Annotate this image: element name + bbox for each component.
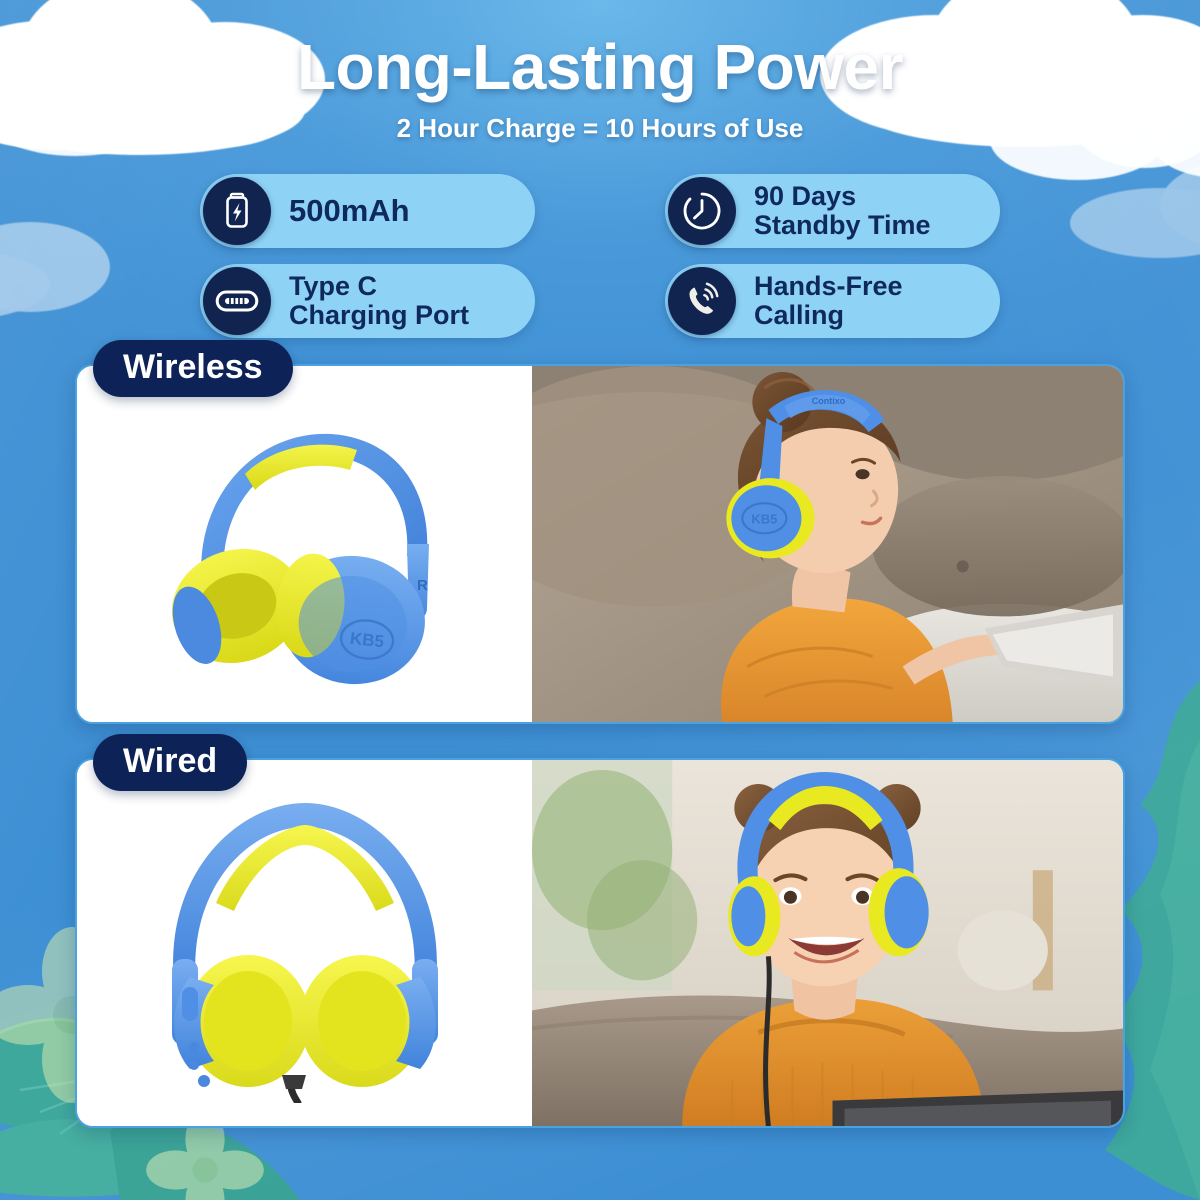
badge-capacity-label: 500mAh — [289, 194, 424, 227]
section-wireless: Wireless — [75, 364, 1125, 724]
page-title: Long-Lasting Power — [0, 0, 1200, 101]
badge-standby: 90 Days Standby Time — [665, 174, 1000, 248]
tag-wireless: Wireless — [93, 340, 293, 397]
wireless-product-panel: KB5 R — [77, 366, 532, 722]
wireless-lifestyle-photo: Contixo KB5 — [532, 366, 1123, 722]
badge-charging-port: Type C Charging Port — [200, 264, 535, 338]
section-wired: Wired — [75, 758, 1125, 1128]
smiling-girl-wearing-wired-headphones-scene — [532, 760, 1123, 1126]
wired-panel-row — [75, 758, 1125, 1128]
badge-calling-label: Hands-Free Calling — [754, 272, 917, 330]
battery-icon — [203, 177, 271, 245]
page-subtitle: 2 Hour Charge = 10 Hours of Use — [0, 113, 1200, 144]
svg-text:R: R — [417, 577, 428, 594]
badge-capacity: 500mAh — [200, 174, 535, 248]
phone-call-icon — [668, 267, 736, 335]
infographic-page: Long-Lasting Power 2 Hour Charge = 10 Ho… — [0, 0, 1200, 1200]
earcup-brand-mark-photo: KB5 — [751, 511, 777, 526]
tag-wired: Wired — [93, 734, 247, 791]
badge-standby-label: 90 Days Standby Time — [754, 182, 945, 240]
wired-product-panel — [77, 760, 532, 1126]
badge-calling: Hands-Free Calling — [665, 264, 1000, 338]
wireless-panel-row: KB5 R — [75, 364, 1125, 724]
kids-headphones-wired-icon — [140, 783, 470, 1103]
girl-lying-on-couch-with-tablet-scene: Contixo KB5 — [532, 366, 1123, 722]
kids-headphones-wireless-icon: KB5 R — [145, 394, 465, 694]
badge-charging-port-label: Type C Charging Port — [289, 272, 483, 330]
feature-badge-grid: 500mAh 90 Days Standby Time — [200, 174, 1000, 338]
earcup-brand-mark: KB5 — [349, 629, 385, 651]
usb-c-icon — [203, 267, 271, 335]
headband-brand-mark: Contixo — [812, 396, 846, 406]
wired-lifestyle-photo — [532, 760, 1123, 1126]
clock-icon — [668, 177, 736, 245]
